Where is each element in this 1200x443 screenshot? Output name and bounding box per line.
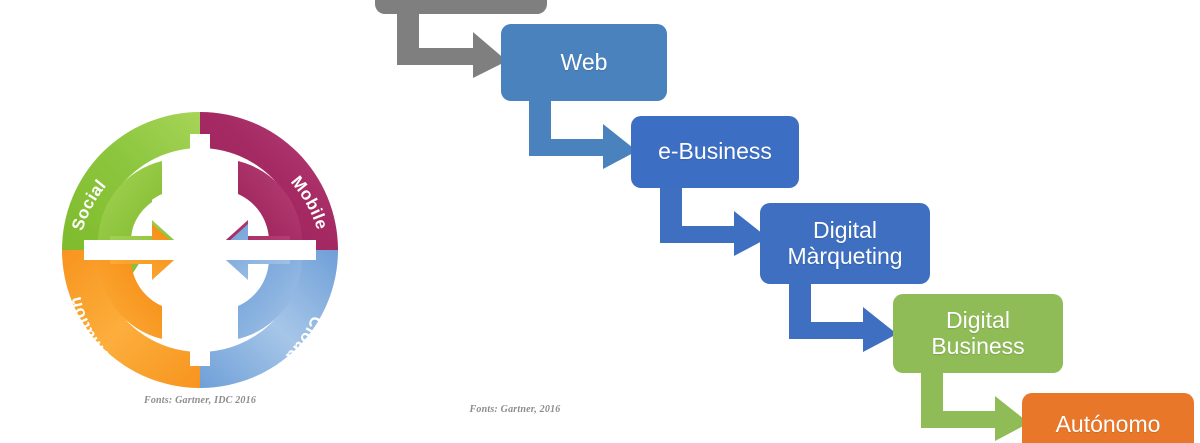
digital-evolution-flowchart: Web e-Business Digital Màrqueting (355, 0, 1200, 443)
nexus-source-caption: Fonts: Gartner, IDC 2016 (40, 395, 360, 406)
flow-node-digital-marqueting[interactable]: Digital Màrqueting (760, 203, 930, 284)
flow-node-digital-business-line2: Business (931, 333, 1024, 359)
flow-source-caption: Fonts: Gartner, 2016 (415, 404, 615, 415)
connector-web-to-ebusiness (527, 99, 643, 169)
connector-ebusiness-to-marqueting (658, 186, 774, 256)
flow-node-digital-marqueting-line1: Digital (813, 217, 877, 243)
nexus-of-forces-diagram: Social Mobile Information Cloud Fonts: G… (40, 90, 370, 430)
flow-node-ebusiness[interactable]: e-Business (631, 116, 799, 188)
flow-node-web[interactable]: Web (501, 24, 667, 101)
flow-node-autonomo[interactable]: Autónomo (1022, 393, 1194, 443)
flow-node-digital-business[interactable]: Digital Business (893, 294, 1063, 373)
flow-node-digital-marqueting-line2: Màrqueting (787, 243, 902, 269)
connector-gray-to-web (395, 8, 513, 78)
slide-canvas: Social Mobile Information Cloud Fonts: G… (0, 0, 1200, 443)
connector-digitalbusiness-to-autonomo (919, 371, 1035, 441)
connector-marqueting-to-digitalbusiness (787, 282, 903, 352)
flow-node-digital-business-line1: Digital (946, 307, 1010, 333)
nexus-ring: Social Mobile Information Cloud (40, 90, 360, 400)
